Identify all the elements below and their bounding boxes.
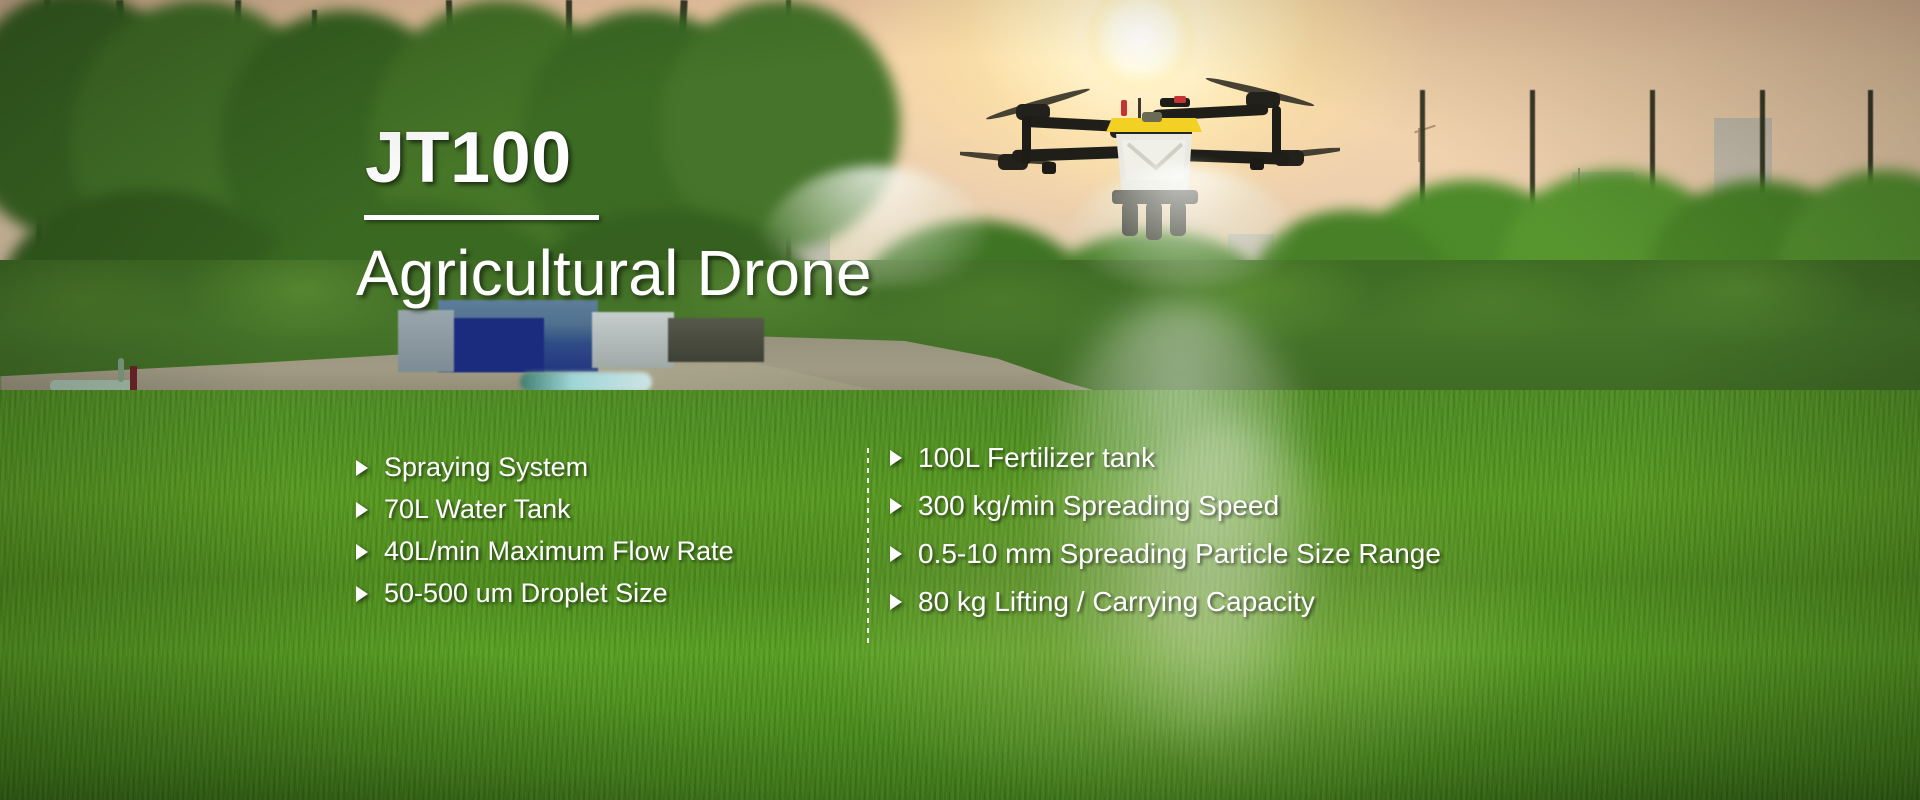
product-banner: JT100 Agricultural Drone Spraying System… bbox=[0, 0, 1920, 800]
list-item: 40L/min Maximum Flow Rate bbox=[356, 536, 856, 567]
spec-label: 80 kg Lifting / Carrying Capacity bbox=[918, 586, 1315, 618]
spec-label: 0.5-10 mm Spreading Particle Size Range bbox=[918, 538, 1441, 570]
list-item: Spraying System bbox=[356, 452, 856, 483]
triangle-right-icon bbox=[890, 450, 902, 466]
spec-label: 300 kg/min Spreading Speed bbox=[918, 490, 1279, 522]
product-subtitle: Agricultural Drone bbox=[356, 240, 872, 307]
triangle-right-icon bbox=[890, 546, 902, 562]
triangle-right-icon bbox=[890, 498, 902, 514]
list-item: 70L Water Tank bbox=[356, 494, 856, 525]
spec-label: 100L Fertilizer tank bbox=[918, 442, 1155, 474]
list-item: 50-500 um Droplet Size bbox=[356, 578, 856, 609]
triangle-right-icon bbox=[356, 502, 368, 518]
triangle-right-icon bbox=[890, 594, 902, 610]
spec-label: 70L Water Tank bbox=[384, 494, 571, 525]
triangle-right-icon bbox=[356, 460, 368, 476]
product-title: JT100 bbox=[365, 122, 572, 194]
spec-columns: Spraying System 70L Water Tank 40L/min M… bbox=[0, 430, 1920, 640]
list-item: 80 kg Lifting / Carrying Capacity bbox=[890, 586, 1610, 618]
list-item: 100L Fertilizer tank bbox=[890, 442, 1610, 474]
title-underline bbox=[364, 215, 599, 220]
list-item: 300 kg/min Spreading Speed bbox=[890, 490, 1610, 522]
spec-label: Spraying System bbox=[384, 452, 588, 483]
spec-label: 50-500 um Droplet Size bbox=[384, 578, 668, 609]
triangle-right-icon bbox=[356, 544, 368, 560]
spec-label: 40L/min Maximum Flow Rate bbox=[384, 536, 734, 567]
list-item: 0.5-10 mm Spreading Particle Size Range bbox=[890, 538, 1610, 570]
spec-column-right: 100L Fertilizer tank 300 kg/min Spreadin… bbox=[890, 442, 1610, 634]
triangle-right-icon bbox=[356, 586, 368, 602]
banner-content: JT100 Agricultural Drone Spraying System… bbox=[0, 0, 1920, 800]
spec-column-left: Spraying System 70L Water Tank 40L/min M… bbox=[356, 452, 856, 620]
